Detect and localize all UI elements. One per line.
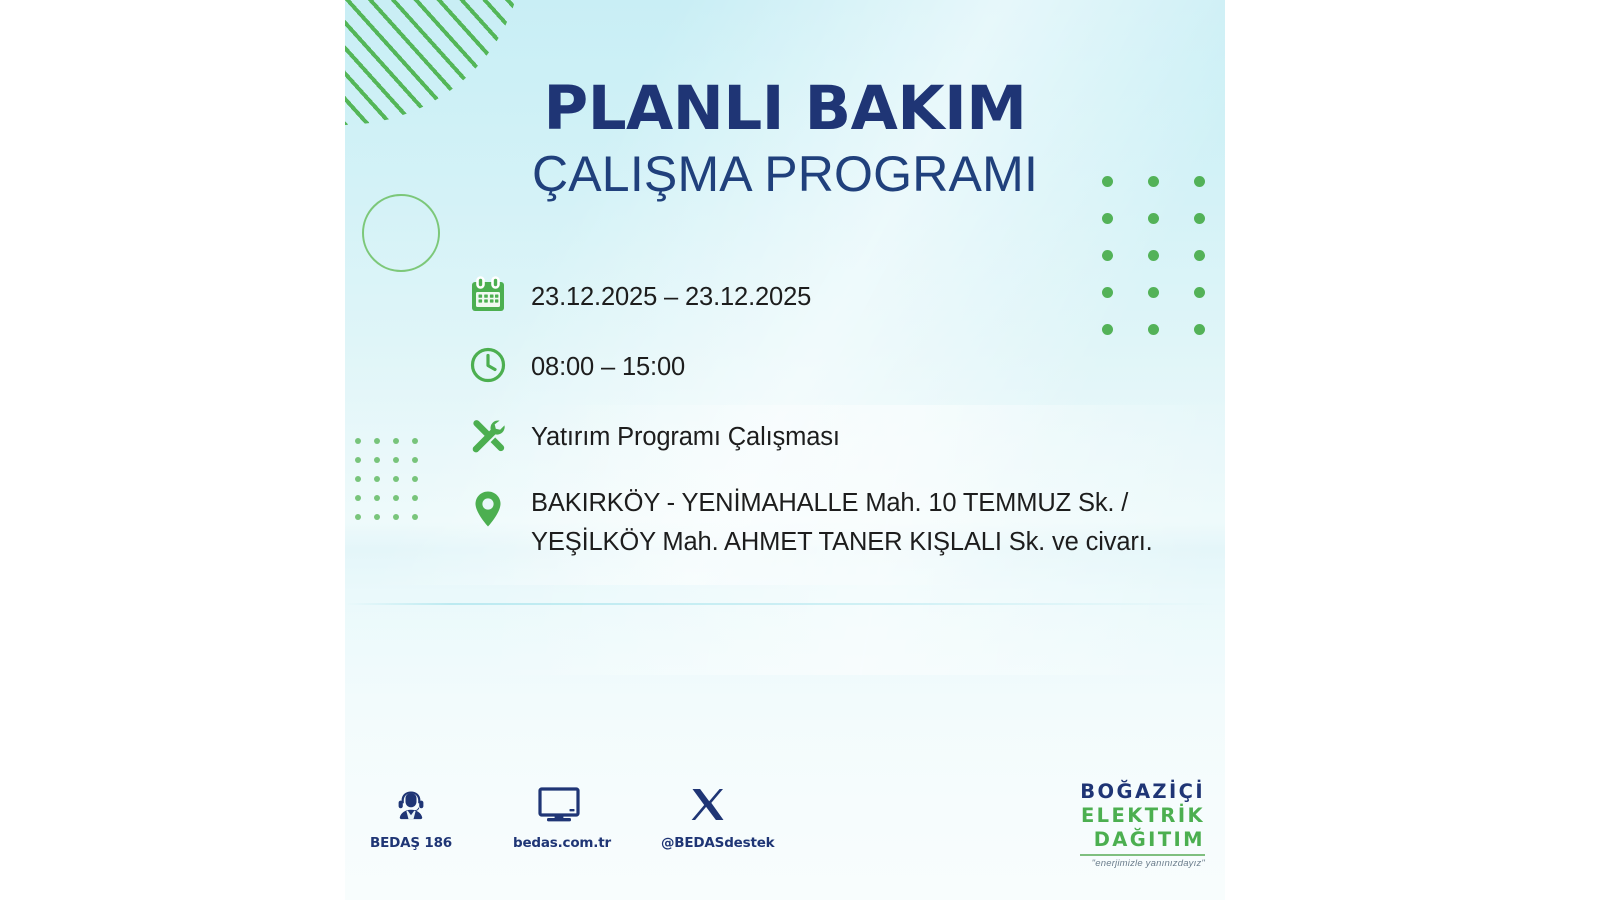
circle-outline-decoration [362,194,440,272]
section-divider [345,603,1225,605]
page-title: PLANLI BAKIM [345,78,1225,139]
poster-screenshot: PLANLI BAKIM ÇALIŞMA PROGRAMI [0,0,1600,900]
contact-website-label: bedas.com.tr [513,835,605,851]
location-pin-icon [465,486,511,532]
brand-line-3: DAĞITIM [1080,828,1205,852]
tools-icon [465,412,511,458]
contact-phone-label: BEDAŞ 186 [365,835,457,851]
brand-line-1: BOĞAZİÇİ [1080,780,1205,804]
address-line-2: YEŞİLKÖY Mah. AHMET TANER KIŞLALI Sk. ve… [531,523,1185,562]
address-text: BAKIRKÖY - YENİMAHALLE Mah. 10 TEMMUZ Sk… [511,482,1185,562]
contact-website[interactable]: bedas.com.tr [513,780,605,851]
date-range-text: 23.12.2025 – 23.12.2025 [511,272,1185,318]
poster-header: PLANLI BAKIM ÇALIŞMA PROGRAMI [345,78,1225,201]
info-list: 23.12.2025 – 23.12.2025 08:00 – 15:00 [465,272,1185,562]
brand-tagline: "enerjimizle yanınızdayız" [1080,858,1205,869]
info-row-date: 23.12.2025 – 23.12.2025 [465,272,1185,318]
left-margin [0,0,345,900]
announcement-card: PLANLI BAKIM ÇALIŞMA PROGRAMI [345,0,1225,900]
contact-x[interactable]: @BEDASdestek [661,780,753,851]
dot-grid-left-decoration [355,438,431,533]
monitor-icon [513,780,605,826]
time-range-text: 08:00 – 15:00 [511,342,1185,388]
work-type-text: Yatırım Programı Çalışması [511,412,1185,458]
info-row-address: BAKIRKÖY - YENİMAHALLE Mah. 10 TEMMUZ Sk… [465,482,1185,562]
info-row-time: 08:00 – 15:00 [465,342,1185,388]
brand-line-2: ELEKTRİK [1080,804,1205,828]
brand-underline [1080,854,1205,856]
contact-channels: BEDAŞ 186 bedas.com.tr [365,780,753,851]
page-subtitle: ÇALIŞMA PROGRAMI [345,148,1225,201]
x-twitter-icon [661,780,753,826]
poster-footer: BEDAŞ 186 bedas.com.tr [345,780,1225,880]
bedas-logo: BOĞAZİÇİ ELEKTRİK DAĞITIM "enerjimizle y… [1080,780,1205,869]
contact-phone[interactable]: BEDAŞ 186 [365,780,457,851]
address-line-1: BAKIRKÖY - YENİMAHALLE Mah. 10 TEMMUZ Sk… [531,484,1185,523]
calendar-icon [465,272,511,318]
support-agent-icon [365,780,457,826]
contact-x-label: @BEDASdestek [661,835,753,851]
info-row-work-type: Yatırım Programı Çalışması [465,412,1185,458]
clock-icon [465,342,511,388]
right-margin [1225,0,1600,900]
